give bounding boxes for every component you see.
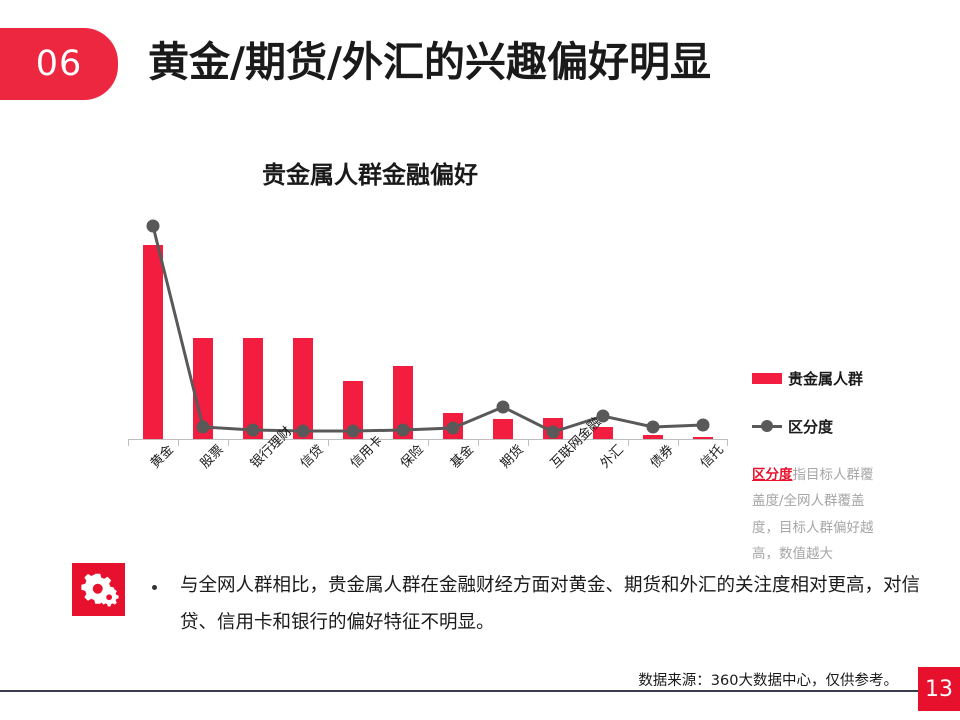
page-number-text: 13 — [925, 677, 953, 702]
x-tick-7 — [478, 440, 479, 446]
x-label-10: 债券 — [645, 440, 677, 472]
slide-root: 06 黄金/期货/外汇的兴趣偏好明显 贵金属人群金融偏好 黄金股票银行理财信贷信… — [0, 0, 960, 720]
x-label-6: 基金 — [445, 440, 477, 472]
bullet-point-marker — [152, 585, 157, 590]
section-number-badge: 06 — [0, 28, 118, 100]
legend-label-line: 区分度 — [788, 416, 833, 437]
legend-line-marker-icon — [752, 421, 782, 432]
x-label-9: 外汇 — [595, 440, 627, 472]
x-label-0: 黄金 — [145, 440, 177, 472]
legend-label-bar: 贵金属人群 — [788, 368, 863, 389]
chart-container: 贵金属人群金融偏好 黄金股票银行理财信贷信用卡保险基金期货互联网金融外汇债券信托… — [0, 140, 960, 540]
legend-bar-swatch-icon — [752, 373, 782, 384]
legend-item-bar: 贵金属人群 — [752, 365, 952, 391]
x-label-5: 保险 — [395, 440, 427, 472]
line-marker-4 — [347, 425, 360, 438]
x-label-7: 期货 — [495, 440, 527, 472]
section-number-text: 06 — [36, 47, 83, 82]
x-tick-4 — [328, 440, 329, 446]
x-label-3: 信贷 — [295, 440, 327, 472]
x-tick-12 — [727, 440, 728, 446]
line-marker-1 — [197, 421, 210, 434]
line-marker-6 — [447, 422, 460, 435]
gear-icon — [79, 570, 119, 610]
discrimination-definition-note: 区分度指目标人群覆盖度/全网人群覆盖度，目标人群偏好越高，数值越大 — [752, 462, 882, 567]
footer-divider — [0, 690, 960, 692]
line-marker-7 — [497, 401, 510, 414]
page-title: 黄金/期货/外汇的兴趣偏好明显 — [148, 34, 711, 91]
x-tick-6 — [428, 440, 429, 446]
legend-item-line: 区分度 — [752, 413, 952, 439]
insight-bullet-block: 与全网人群相比，贵金属人群在金融财经方面对黄金、期货和外汇的关注度相对更高，对信… — [72, 563, 942, 643]
line-path — [153, 226, 703, 432]
line-marker-10 — [647, 421, 660, 434]
x-tick-0 — [128, 440, 129, 446]
page-number-badge: 13 — [918, 667, 960, 711]
line-marker-8 — [547, 426, 560, 439]
x-tick-8 — [528, 440, 529, 446]
line-marker-11 — [697, 419, 710, 432]
line-marker-5 — [397, 424, 410, 437]
insight-bullet-text: 与全网人群相比，贵金属人群在金融财经方面对黄金、期货和外汇的关注度相对更高，对信… — [180, 567, 940, 641]
x-tick-2 — [228, 440, 229, 446]
x-tick-11 — [678, 440, 679, 446]
x-label-1: 股票 — [195, 440, 227, 472]
x-label-11: 信托 — [695, 440, 727, 472]
chart-legend: 贵金属人群 区分度 — [752, 365, 952, 461]
x-tick-1 — [178, 440, 179, 446]
x-tick-10 — [628, 440, 629, 446]
line-marker-2 — [247, 424, 260, 437]
line-marker-0 — [147, 220, 160, 233]
chart-plot-area — [128, 210, 728, 440]
data-source-text: 数据来源：360大数据中心，仅供参考。 — [638, 669, 898, 690]
annotation-highlight-term: 区分度 — [752, 467, 793, 483]
discrimination-line-series — [128, 170, 728, 441]
gear-icon-box — [72, 563, 125, 616]
line-marker-3 — [297, 425, 310, 438]
slide-header: 06 黄金/期货/外汇的兴趣偏好明显 — [0, 28, 960, 100]
